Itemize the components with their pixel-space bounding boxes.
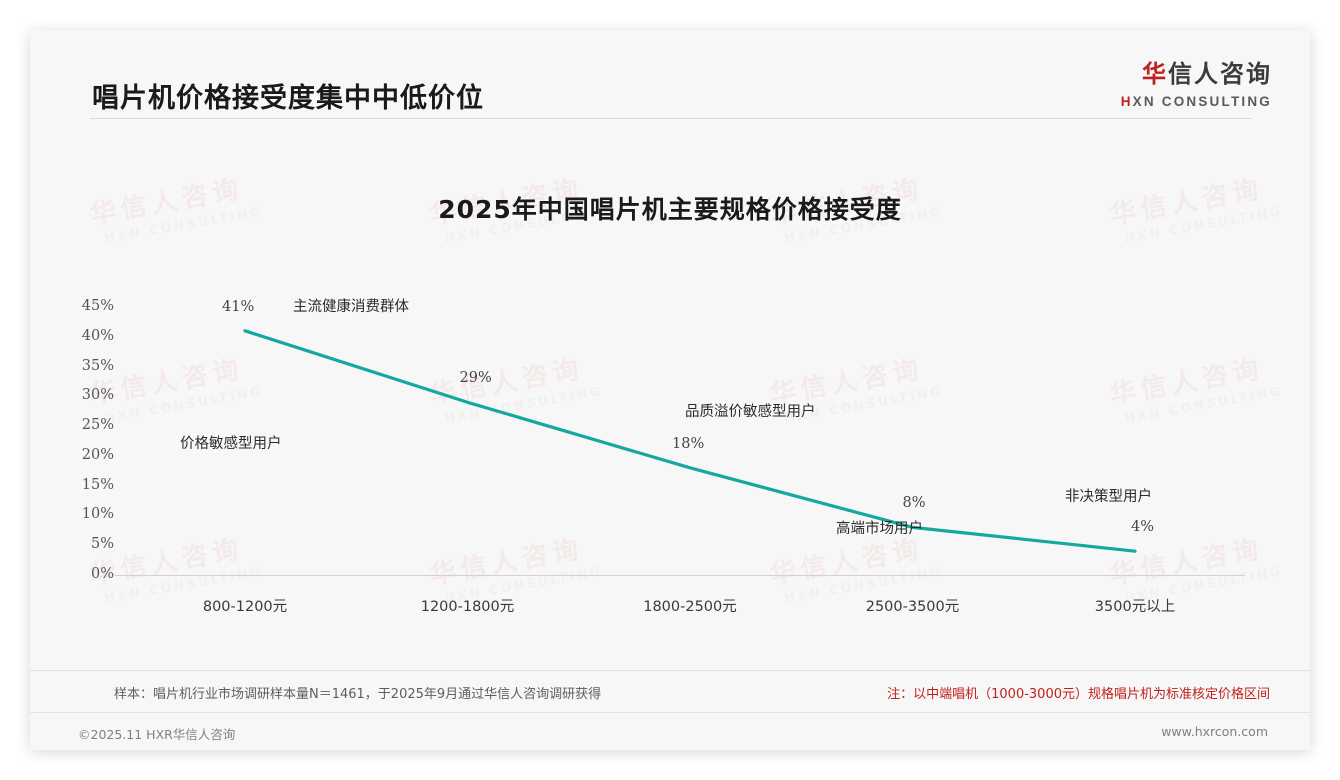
logo-chinese: 华信人咨询 (1121, 54, 1272, 89)
copyright-bar: ©2025.11 HXR华信人咨询 www.hxrcon.com (30, 713, 1310, 750)
header-divider (90, 118, 1252, 119)
logo-english-rest: XN CONSULTING (1133, 94, 1272, 109)
segment-annotation: 非决策型用户 (1065, 485, 1152, 506)
data-point-label: 8% (903, 495, 926, 511)
methodology-note: 注：以中端唱机（1000-3000元）规格唱片机为标准核定价格区间 (887, 683, 1270, 702)
data-point-label: 41% (222, 299, 254, 315)
segment-annotation: 高端市场用户 (836, 517, 923, 538)
data-point-label: 4% (1131, 519, 1154, 535)
chart-title: 2025年中国唱片机主要规格价格接受度 (30, 190, 1310, 226)
segment-annotation: 品质溢价敏感型用户 (685, 400, 816, 421)
company-logo: 华信人咨询 HXN CONSULTING (1121, 54, 1272, 109)
logo-chinese-rest: 信人咨询 (1168, 60, 1272, 88)
page-title: 唱片机价格接受度集中中低价位 (92, 76, 484, 115)
data-point-label: 29% (460, 370, 492, 386)
website-text: www.hxrcon.com (1161, 724, 1268, 739)
sample-note: 样本：唱片机行业市场调研样本量N＝1461，于2025年9月通过华信人咨询调研获… (114, 683, 601, 702)
logo-english-red: H (1121, 94, 1133, 109)
slide-header: 唱片机价格接受度集中中低价位 华信人咨询 HXN CONSULTING (30, 30, 1310, 120)
copyright-text: ©2025.11 HXR华信人咨询 (78, 724, 235, 743)
chart-plot-area: 45%40%35%30%25%20%15%10%5%0% 800-1200元12… (30, 30, 1310, 750)
logo-chinese-red: 华 (1142, 60, 1168, 88)
footer-notes: 样本：唱片机行业市场调研样本量N＝1461，于2025年9月通过华信人咨询调研获… (30, 670, 1310, 712)
data-point-label: 18% (672, 436, 704, 452)
segment-annotation: 主流健康消费群体 (293, 295, 409, 316)
logo-english: HXN CONSULTING (1121, 94, 1272, 109)
segment-annotation: 价格敏感型用户 (180, 432, 282, 453)
line-series (30, 30, 1310, 750)
slide-canvas: 华信人咨询HXN CONSULTING华信人咨询HXN CONSULTING华信… (30, 30, 1310, 750)
